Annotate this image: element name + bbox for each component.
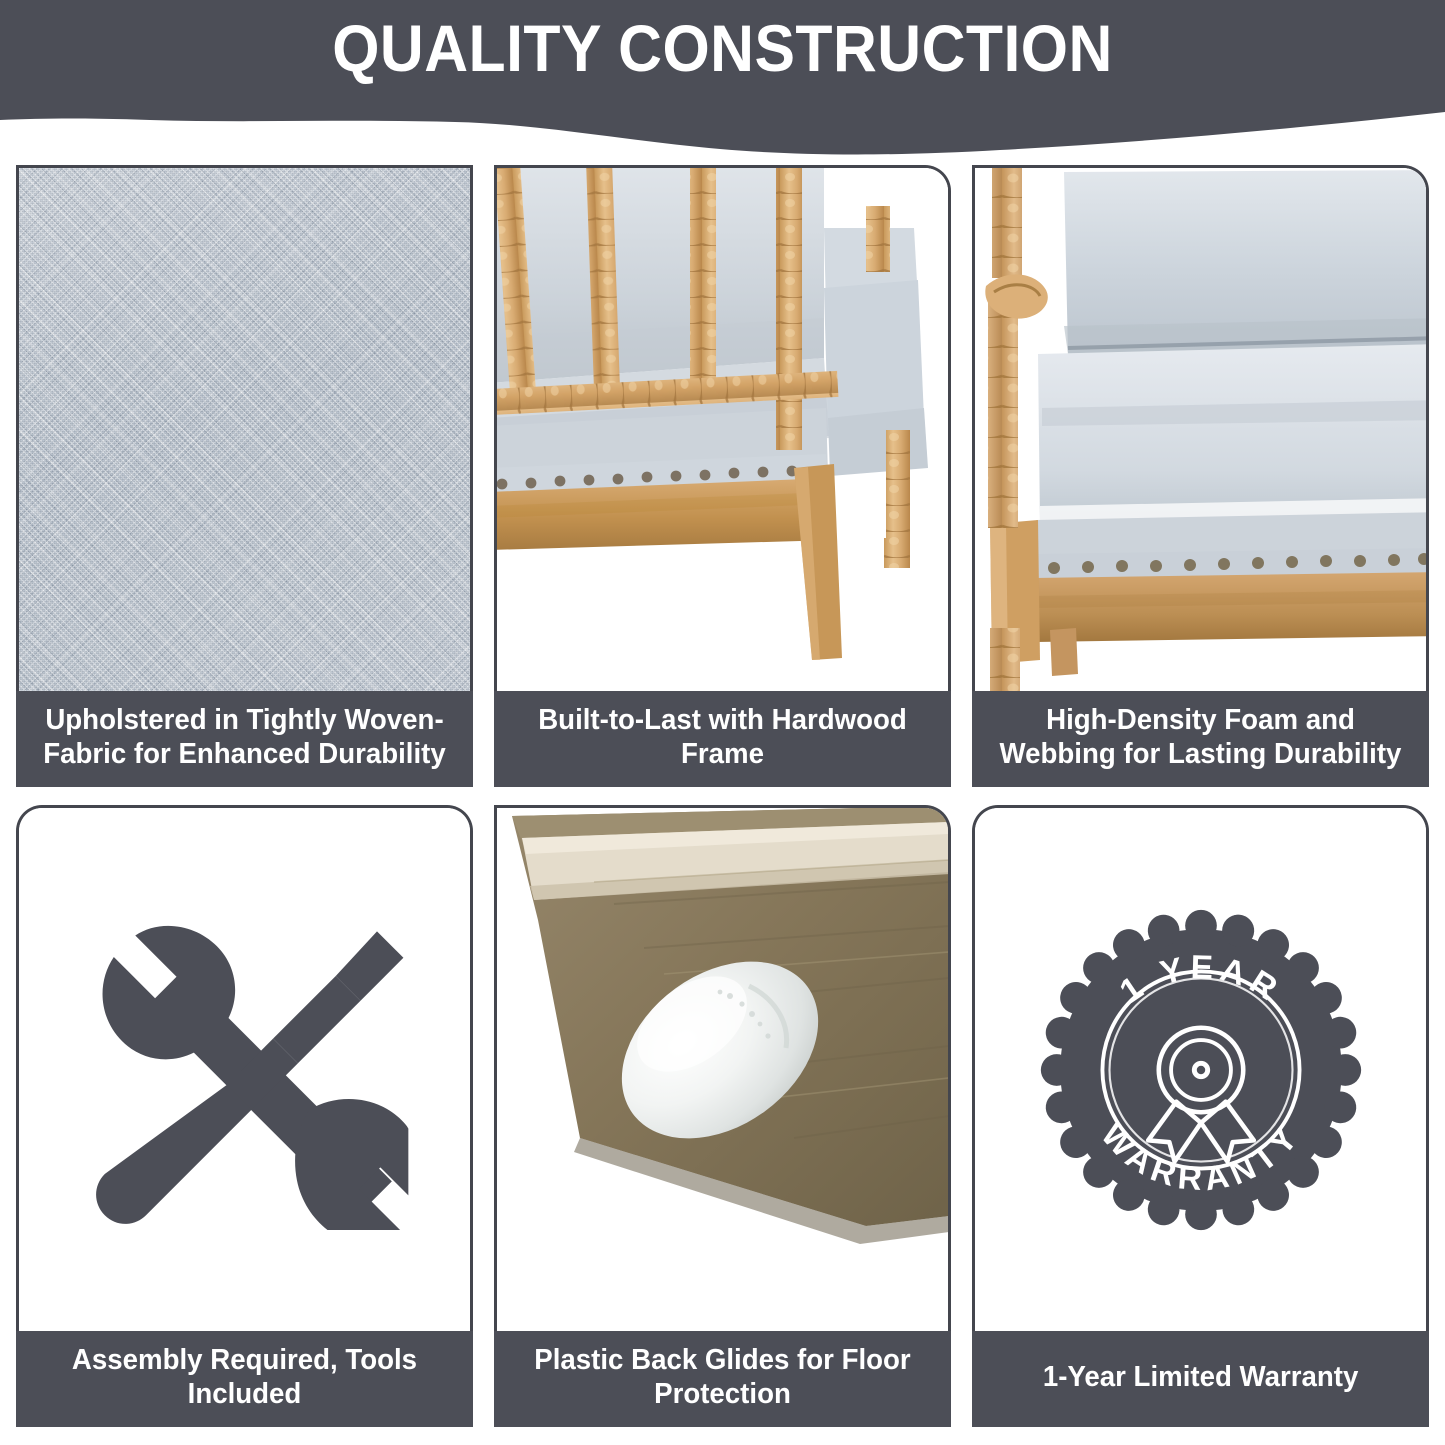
plastic-back-glide-photo — [494, 805, 951, 1331]
cushion-photo-canvas — [975, 168, 1426, 691]
caption-text: Built-to-Last with Hardwood Frame — [511, 703, 935, 771]
cushion-illustration — [975, 168, 1426, 691]
wrench-screwdriver-tools-icon — [80, 905, 410, 1235]
feature-card-foam-webbing: High-Density Foam and Webbing for Lastin… — [972, 165, 1429, 787]
spindle-chair-hardwood-frame-photo — [494, 165, 951, 691]
feature-caption-glides: Plastic Back Glides for Floor Protection — [494, 1331, 951, 1427]
fabric-texture — [19, 168, 470, 691]
feature-caption-foam-webbing: High-Density Foam and Webbing for Lastin… — [972, 691, 1429, 787]
feature-grid: Upholstered in Tightly Woven-Fabric for … — [16, 165, 1429, 1427]
feature-card-upholstery: Upholstered in Tightly Woven-Fabric for … — [16, 165, 473, 787]
caption-text: Plastic Back Glides for Floor Protection — [511, 1343, 935, 1411]
feature-card-glides: Plastic Back Glides for Floor Protection — [494, 805, 951, 1427]
caption-text: 1-Year Limited Warranty — [1043, 1360, 1358, 1394]
feature-card-assembly: Assembly Required, Tools Included — [16, 805, 473, 1427]
one-year-warranty-seal-icon: 1 YEAR WARRANTY — [1025, 894, 1377, 1246]
feature-caption-upholstery: Upholstered in Tightly Woven-Fabric for … — [16, 691, 473, 787]
tools-icon-wrap — [19, 808, 470, 1331]
caption-text: Upholstered in Tightly Woven-Fabric for … — [33, 703, 457, 771]
warranty-icon-panel: 1 YEAR WARRANTY — [972, 805, 1429, 1331]
feature-card-warranty: 1 YEAR WARRANTY — [972, 805, 1429, 1427]
chair-illustration — [497, 168, 948, 691]
feature-caption-hardwood-frame: Built-to-Last with Hardwood Frame — [494, 691, 951, 787]
caption-text: Assembly Required, Tools Included — [33, 1343, 457, 1411]
glide-photo-canvas — [497, 808, 948, 1331]
feature-caption-warranty: 1-Year Limited Warranty — [972, 1331, 1429, 1427]
page-header: QUALITY CONSTRUCTION — [0, 0, 1445, 165]
page-title: QUALITY CONSTRUCTION — [58, 14, 1387, 83]
high-density-foam-cushion-photo — [972, 165, 1429, 691]
assembly-icon-panel — [16, 805, 473, 1331]
feature-caption-assembly: Assembly Required, Tools Included — [16, 1331, 473, 1427]
warranty-seal-wrap: 1 YEAR WARRANTY — [975, 808, 1426, 1331]
glide-illustration — [497, 808, 948, 1331]
caption-text: High-Density Foam and Webbing for Lastin… — [989, 703, 1413, 771]
feature-card-hardwood-frame: Built-to-Last with Hardwood Frame — [494, 165, 951, 787]
chair-photo-canvas — [497, 168, 948, 691]
woven-fabric-swatch-photo — [16, 165, 473, 691]
